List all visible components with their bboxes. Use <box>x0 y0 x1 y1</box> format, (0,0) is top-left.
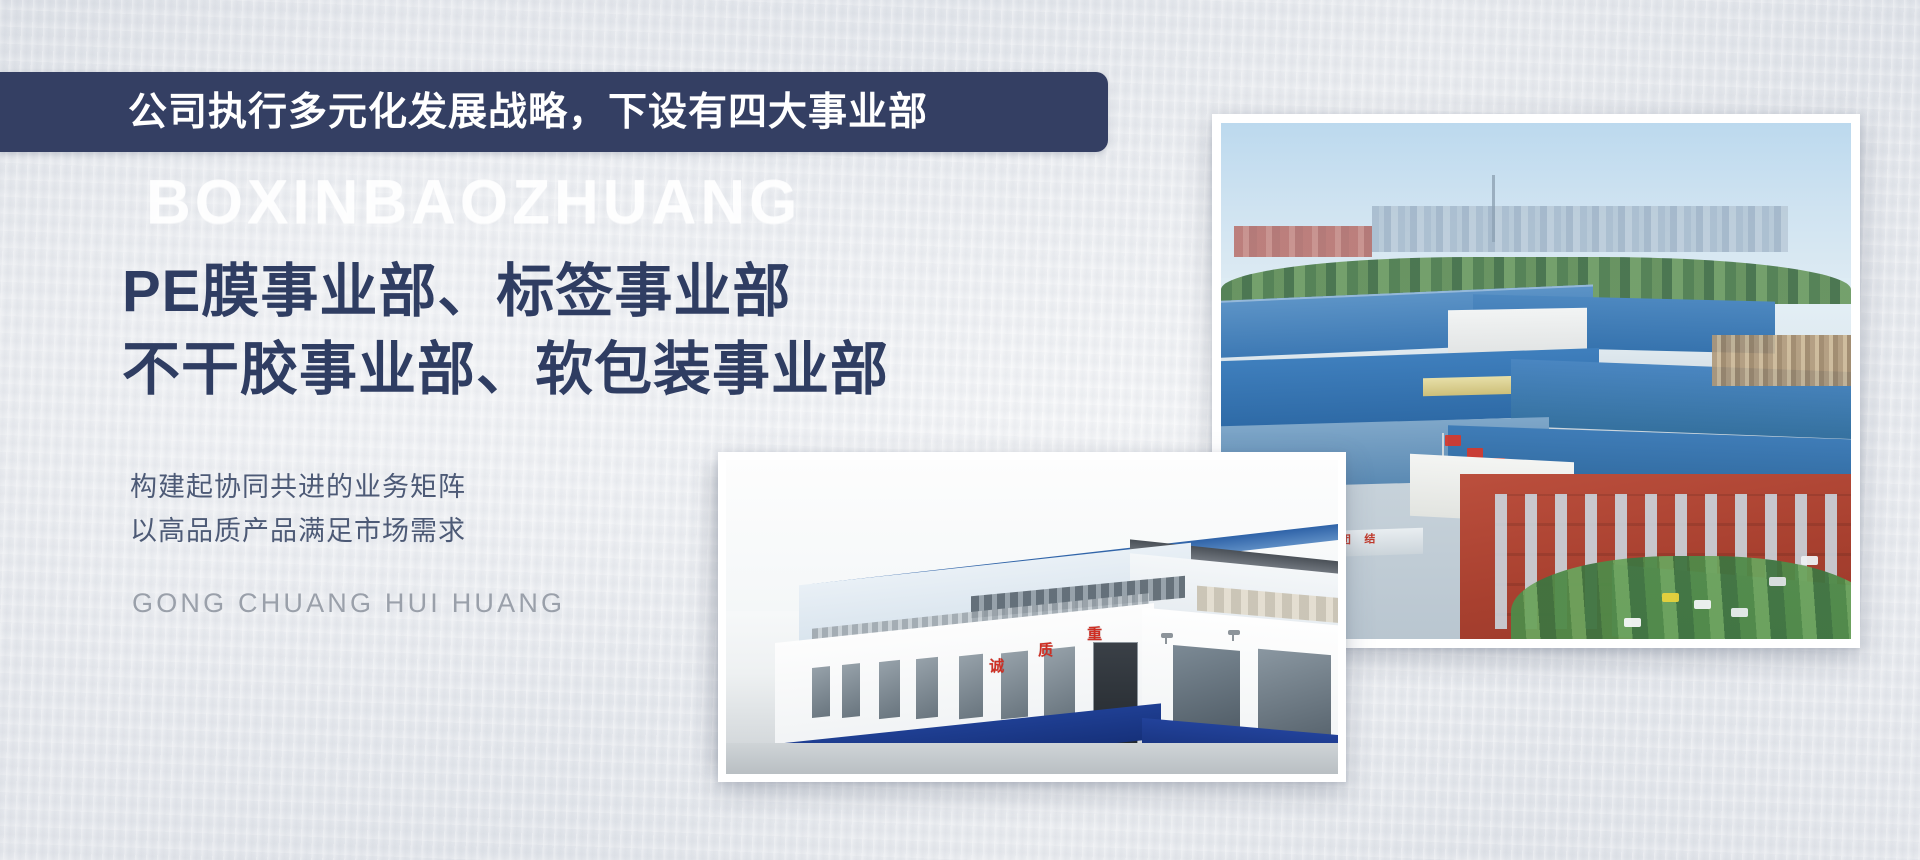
subtitle-block: 构建起协同共进的业务矩阵 以高品质产品满足市场需求 <box>130 466 466 553</box>
distant-red-buildings <box>1234 226 1373 257</box>
pinyin-text: GONG CHUANG HUI HUANG <box>132 588 565 619</box>
ribbon-text: 公司执行多元化发展战略，下设有四大事业部 <box>128 93 928 132</box>
window <box>879 660 900 719</box>
headline-line-2: 不干胶事业部、软包装事业部 <box>122 333 889 407</box>
banner-stage: 公司执行多元化发展战略，下设有四大事业部 BOXINBAOZHUANG PE膜事… <box>0 0 1920 860</box>
paved-ground <box>726 743 1338 774</box>
wall-character: 重 <box>1087 623 1102 644</box>
wall-character: 质 <box>1038 639 1053 660</box>
headline-ribbon: 公司执行多元化发展战略，下设有四大事业部 <box>0 72 1108 152</box>
window <box>916 657 938 719</box>
radio-mast <box>1492 175 1495 242</box>
flag-icon <box>1445 435 1461 446</box>
car <box>1694 600 1711 609</box>
workshop-exterior-photo: 诚 质 重 <box>718 452 1346 782</box>
subtitle-line-2: 以高品质产品满足市场需求 <box>130 510 466 554</box>
factory-photo-inner: 诚 质 重 <box>726 460 1338 774</box>
car <box>1624 618 1641 627</box>
page-title: PE膜事业部、标签事业部 不干胶事业部、软包装事业部 <box>122 255 889 407</box>
window <box>959 653 983 718</box>
distant-skyline <box>1372 206 1788 252</box>
security-camera-icon <box>1228 630 1240 635</box>
car <box>1801 556 1818 565</box>
headline-line-1: PE膜事业部、标签事业部 <box>122 255 889 329</box>
factory-scene: 诚 质 重 <box>726 460 1338 774</box>
window <box>1001 650 1028 719</box>
wall-character: 诚 <box>989 655 1004 676</box>
security-camera-icon <box>1161 633 1173 638</box>
subtitle-line-1: 构建起协同共进的业务矩阵 <box>130 466 466 510</box>
material-stacks <box>1712 335 1851 387</box>
car <box>1769 577 1786 586</box>
car <box>1662 593 1679 602</box>
window <box>842 663 860 718</box>
car <box>1731 608 1748 617</box>
watermark-text: BOXINBAOZHUANG <box>146 172 801 234</box>
window <box>812 666 830 718</box>
